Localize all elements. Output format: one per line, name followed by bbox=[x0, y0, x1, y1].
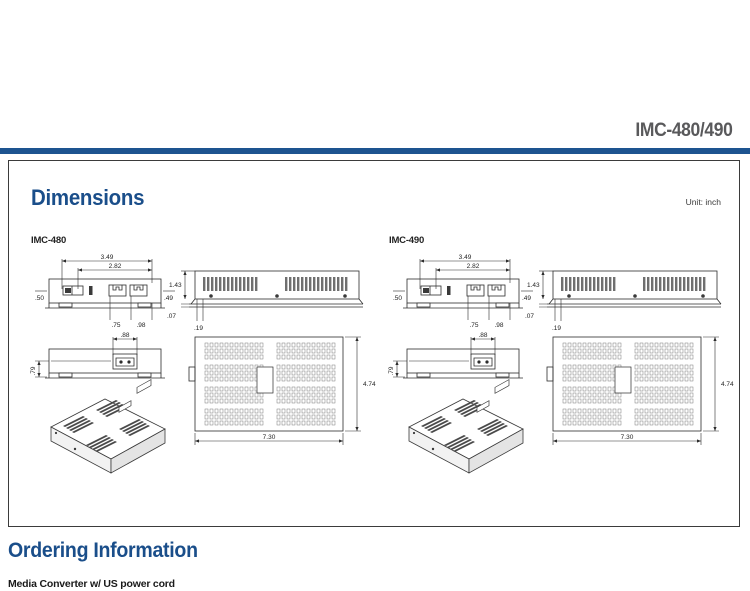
dim-port2-offset-490: .98 bbox=[494, 322, 503, 329]
header-rule bbox=[0, 148, 750, 154]
page-title: IMC-480/490 bbox=[635, 120, 732, 142]
dim-socket-width-490: .88 bbox=[478, 332, 487, 339]
dim-height-490: 1.43 bbox=[527, 282, 540, 289]
side-view-imc-490: 1.43 .07 .19 bbox=[525, 259, 725, 334]
ordering-subheading: Media Converter w/ US power cord bbox=[8, 578, 175, 590]
dim-port2-offset-480: .98 bbox=[136, 322, 145, 329]
dim-overall-width-480: 3.49 bbox=[101, 254, 114, 261]
front-view-imc-480: 3.49 2.82 .50 .49 bbox=[25, 253, 185, 333]
dim-socket-width-480: .88 bbox=[120, 332, 129, 339]
rear-view-imc-480: .88 .79 bbox=[25, 331, 185, 391]
dim-port1-offset-490: .75 bbox=[469, 322, 478, 329]
dim-left-offset-490: .50 bbox=[393, 295, 402, 302]
drawing-group-imc-480: 3.49 2.82 .50 .49 bbox=[19, 253, 379, 503]
dim-overall-width-490: 3.49 bbox=[459, 254, 472, 261]
dim-width-480: 4.74 bbox=[363, 381, 376, 388]
dim-left-offset-480: .50 bbox=[35, 295, 44, 302]
side-view-imc-480: 1.43 .07 .19 bbox=[167, 259, 367, 334]
top-view-imc-480: 7.30 4.74 bbox=[177, 329, 377, 457]
dim-rear-height-490: .79 bbox=[388, 366, 395, 375]
dimensions-card: Dimensions Unit: inch IMC-480 IMC-490 bbox=[8, 160, 740, 527]
rear-view-imc-490: .88 .79 bbox=[383, 331, 543, 391]
dim-foot-height-480: .07 bbox=[167, 313, 176, 320]
drawing-group-imc-490: 3.49 2.82 .50 .49 .75 .98 bbox=[377, 253, 737, 503]
dim-port1-offset-480: .75 bbox=[111, 322, 120, 329]
ordering-information-heading: Ordering Information bbox=[8, 539, 198, 563]
dim-inner-width-480: 2.82 bbox=[109, 263, 122, 270]
dim-inner-width-490: 2.82 bbox=[467, 263, 480, 270]
unit-note: Unit: inch bbox=[686, 197, 721, 207]
isometric-view-imc-490 bbox=[391, 393, 541, 478]
dim-rear-height-480: .79 bbox=[30, 366, 37, 375]
dim-foot-height-490: .07 bbox=[525, 313, 534, 320]
model-label-imc-480: IMC-480 bbox=[31, 235, 66, 246]
dimensions-heading: Dimensions bbox=[31, 185, 144, 211]
top-view-imc-490: 7.30 4.74 bbox=[535, 329, 735, 457]
dim-height-480: 1.43 bbox=[169, 282, 182, 289]
dim-length-490: 7.30 bbox=[621, 434, 634, 441]
model-label-imc-490: IMC-490 bbox=[389, 235, 424, 246]
isometric-view-imc-480 bbox=[33, 393, 183, 478]
front-view-imc-490: 3.49 2.82 .50 .49 .75 .98 bbox=[383, 253, 543, 333]
dim-width-490: 4.74 bbox=[721, 381, 734, 388]
dim-length-480: 7.30 bbox=[263, 434, 276, 441]
